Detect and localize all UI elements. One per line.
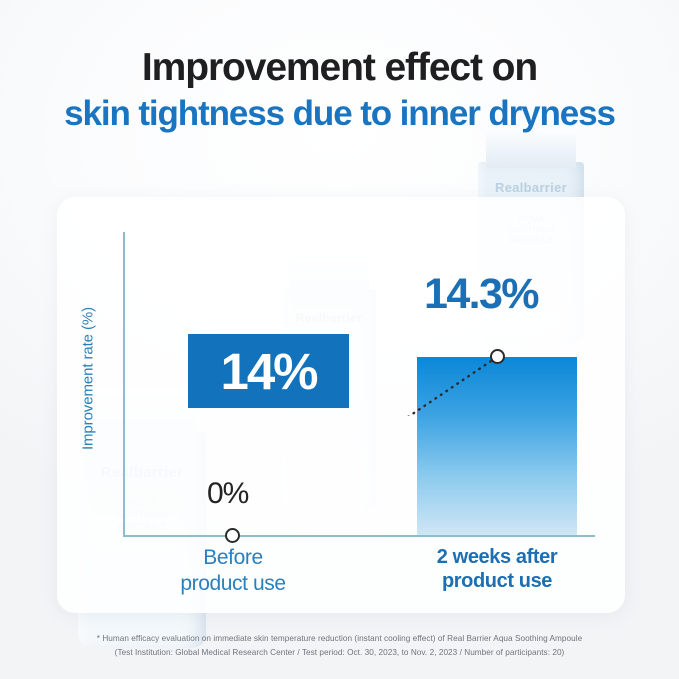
footnote: * Human efficacy evaluation on immediate… [0,632,679,660]
footnote-line-2: (Test Institution: Global Medical Resear… [0,646,679,660]
value-label-zero: 0% [207,477,248,511]
y-axis-line [123,232,125,537]
value-label-after: 14.3% [424,270,538,319]
headline: Improvement effect on skin tightness due… [0,46,679,134]
data-point-marker-after [490,349,505,364]
value-badge-14-percent: 14% [188,334,349,408]
x-axis-line [123,535,595,537]
footnote-line-1: * Human efficacy evaluation on immediate… [0,632,679,646]
x-axis-label-after: 2 weeks after product use [408,545,586,594]
y-axis-label: Improvement rate (%) [80,269,97,489]
bar-2-weeks-after [417,357,577,535]
infographic-canvas: Realbarrier AQUA SOOTHING AMPOULE Realba… [0,0,679,679]
headline-line-2: skin tightness due to inner dryness [0,93,679,134]
headline-line-1: Improvement effect on [0,46,679,90]
value-badge-text: 14% [220,346,316,397]
data-point-marker-before [225,528,240,543]
x-axis-label-before: Before product use [148,545,318,596]
